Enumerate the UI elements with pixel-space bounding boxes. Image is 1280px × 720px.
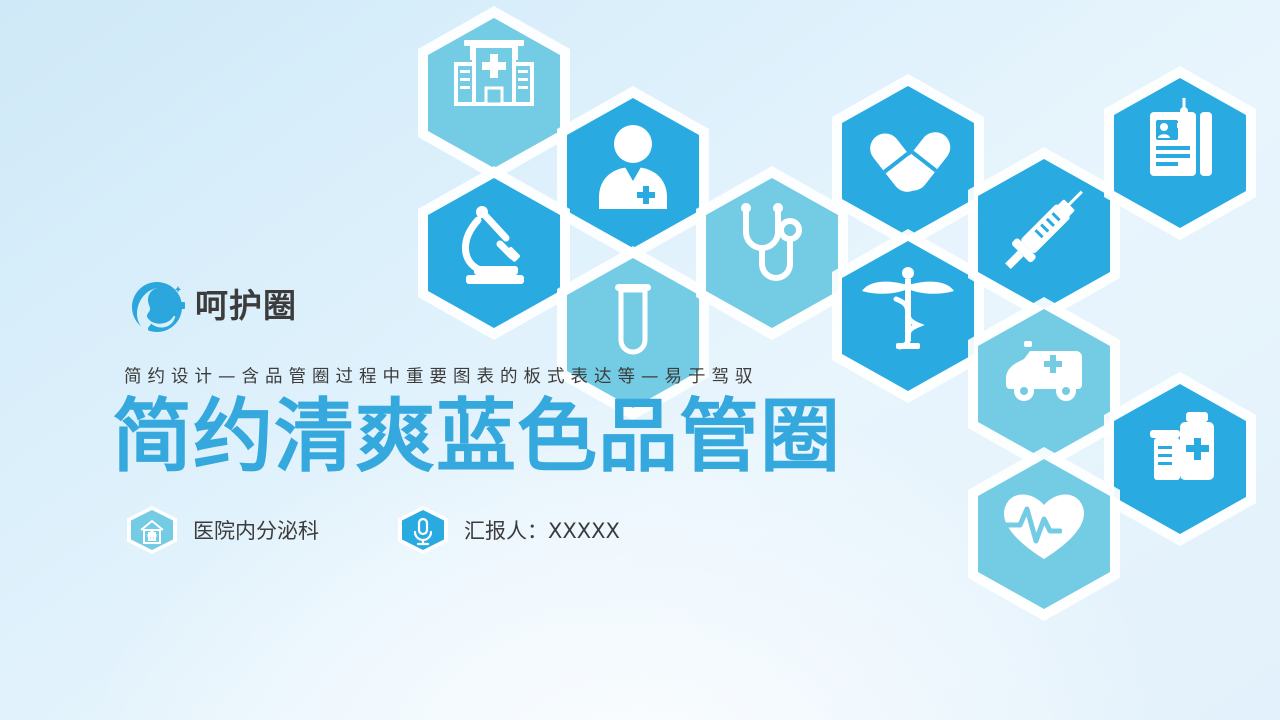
- department-label: 医院内分泌科: [193, 515, 319, 545]
- hex-record: [1098, 62, 1262, 244]
- hex-heartbeat: [962, 443, 1126, 625]
- presentation-slide: 呵护圈 简约设计—含品管圈过程中重要图表的板式表达等—易于驾驭 简约清爽蓝色品管…: [0, 0, 1280, 720]
- meta-row: 医院内分泌科 汇报人：XXXXX: [124, 505, 620, 555]
- department-meta: 医院内分泌科: [124, 505, 319, 555]
- presenter-meta: 汇报人：XXXXX: [395, 505, 620, 555]
- slide-subtitle: 简约设计—含品管圈过程中重要图表的板式表达等—易于驾驭: [124, 363, 924, 388]
- brand-logo: 呵护圈: [128, 278, 297, 336]
- hospital-home-icon: [124, 505, 180, 555]
- microphone-icon: [395, 505, 451, 555]
- presenter-label: 汇报人：XXXXX: [464, 515, 620, 545]
- slide-title: 简约清爽蓝色品管圈: [112, 392, 841, 482]
- title-text-block: 呵护圈 简约设计—含品管圈过程中重要图表的板式表达等—易于驾驭 简约清爽蓝色品管…: [0, 0, 960, 720]
- brand-wordmark: 呵护圈: [195, 289, 297, 325]
- care-circle-logo-icon: [128, 278, 186, 336]
